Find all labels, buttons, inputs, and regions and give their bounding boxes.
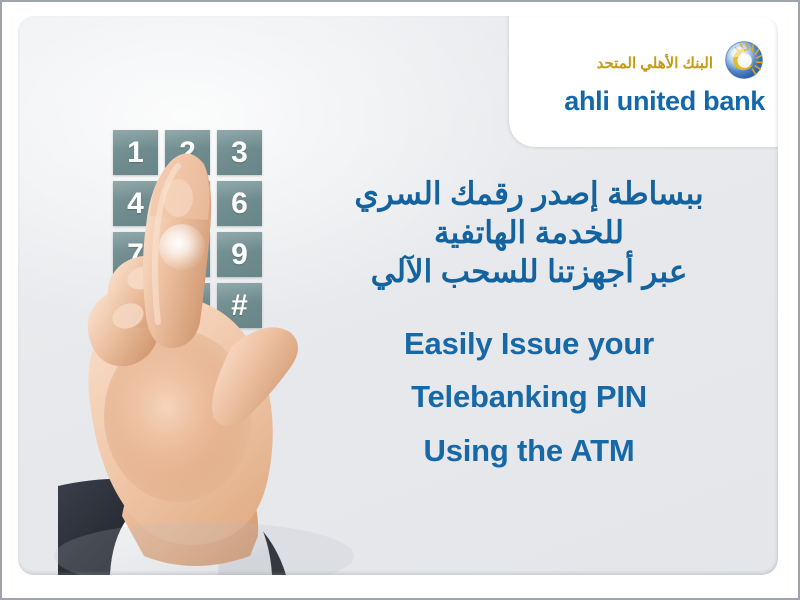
- keypad-key-0[interactable]: 0: [165, 283, 210, 328]
- arabic-headline-line-1: ببساطة إصدر رقمك السري: [294, 174, 764, 213]
- english-headline-line-3: Using the ATM: [294, 424, 764, 477]
- keypad-key-label: #: [231, 291, 248, 321]
- english-headline-line-1: Easily Issue your: [294, 317, 764, 370]
- logo-wordmark: ahli united bank: [564, 88, 765, 115]
- promo-copy: ببساطة إصدر رقمك السري للخدمة الهاتفية ع…: [294, 174, 764, 477]
- keypad-key-5[interactable]: 5: [165, 181, 210, 226]
- keypad-key-label: 8: [179, 240, 196, 270]
- keypad-key-label: 0: [179, 291, 196, 321]
- globe-sunburst-emblem-icon: [723, 39, 765, 81]
- keypad-key-label: *: [130, 291, 142, 321]
- shirt-cuff: [110, 486, 272, 575]
- keypad-key-label: 6: [231, 189, 248, 219]
- suit-sleeve: [58, 479, 286, 575]
- keypad-key-label: 7: [127, 240, 144, 270]
- advertisement-banner: 1 2 3 4 5 6 7 8 9 * 0 #: [0, 0, 800, 600]
- keypad-key-label: 4: [127, 189, 144, 219]
- banner-panel: 1 2 3 4 5 6 7 8 9 * 0 #: [18, 16, 778, 575]
- english-headline-line-2: Telebanking PIN: [294, 370, 764, 423]
- keypad-key-label: 5: [179, 189, 196, 219]
- keypad-key-label: 1: [127, 138, 144, 168]
- keypad-key-4[interactable]: 4: [113, 181, 158, 226]
- keypad-key-label: 9: [231, 240, 248, 270]
- hand-shadow: [54, 522, 354, 575]
- bank-logo-plate: البنك الأهلي المتحد: [509, 16, 778, 147]
- keypad-key-9[interactable]: 9: [217, 232, 262, 277]
- keypad-key-asterisk[interactable]: *: [113, 283, 158, 328]
- arabic-headline: ببساطة إصدر رقمك السري للخدمة الهاتفية ع…: [294, 174, 764, 291]
- atm-telephone-keypad: 1 2 3 4 5 6 7 8 9 * 0 #: [113, 130, 262, 330]
- keypad-key-3[interactable]: 3: [217, 130, 262, 175]
- keypad-key-label: 3: [231, 138, 248, 168]
- palm-shading: [104, 330, 252, 502]
- keypad-key-hash[interactable]: #: [217, 283, 262, 328]
- cuff-highlight: [110, 487, 224, 575]
- keypad-key-6[interactable]: 6: [217, 181, 262, 226]
- wrist: [122, 442, 258, 566]
- keypad-key-7[interactable]: 7: [113, 232, 158, 277]
- keypad-key-label: 2: [179, 138, 196, 168]
- english-headline: Easily Issue your Telebanking PIN Using …: [294, 317, 764, 477]
- keypad-key-2[interactable]: 2: [165, 130, 210, 175]
- palm: [88, 295, 272, 545]
- logo-arabic-name: البنك الأهلي المتحد: [597, 56, 713, 71]
- bank-logo: البنك الأهلي المتحد: [564, 38, 765, 115]
- arabic-headline-line-3: عبر أجهزتنا للسحب الآلي: [294, 252, 764, 291]
- keypad-key-8[interactable]: 8: [165, 232, 210, 277]
- arabic-headline-line-2: للخدمة الهاتفية: [294, 213, 764, 252]
- keypad-key-1[interactable]: 1: [113, 130, 158, 175]
- logo-top-row: البنك الأهلي المتحد: [564, 38, 765, 82]
- thumb: [212, 327, 298, 426]
